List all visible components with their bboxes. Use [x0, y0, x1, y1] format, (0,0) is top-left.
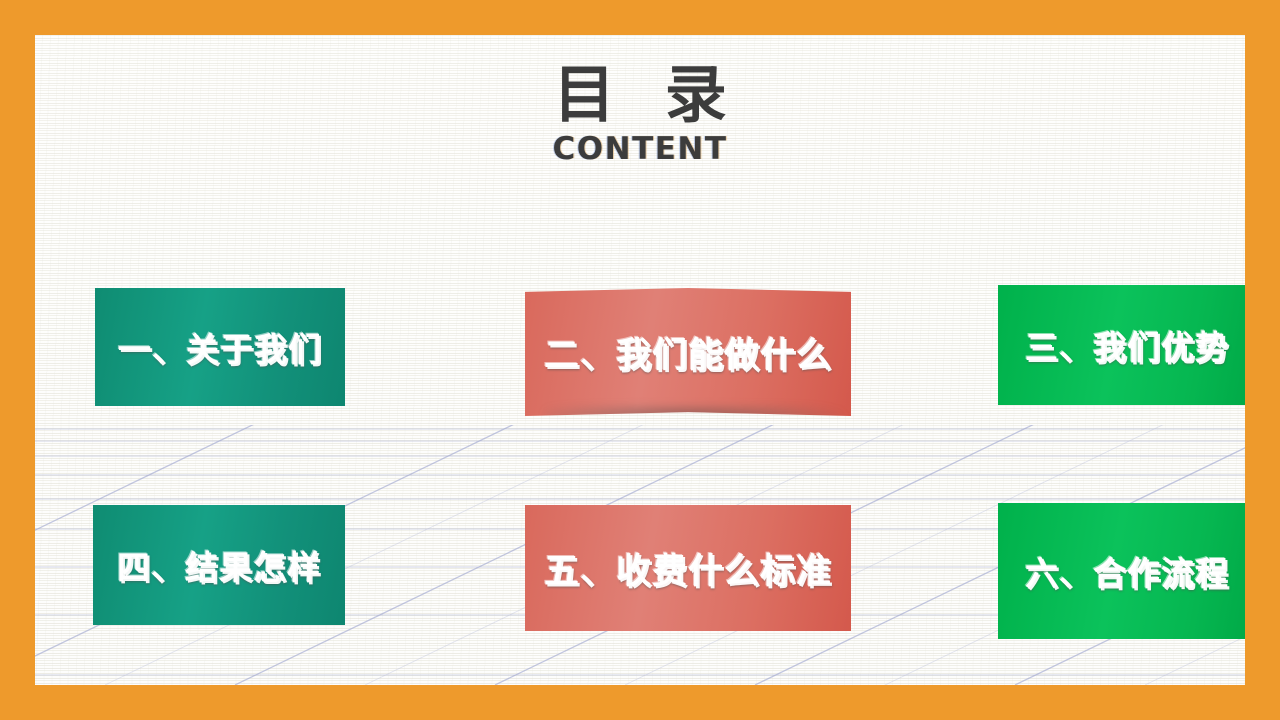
agenda-card-4-label: 四、结果怎样: [93, 541, 345, 589]
content-panel: 目 录 CONTENT 一、关于我们 二、我们能做什么 三、我们优势 四、结果怎…: [35, 35, 1245, 685]
page-title: 目 录: [35, 60, 1245, 129]
agenda-card-5-label: 五、收费什么标准: [525, 543, 851, 594]
agenda-card-3[interactable]: 三、我们优势: [998, 285, 1245, 405]
agenda-card-1[interactable]: 一、关于我们: [95, 288, 345, 406]
agenda-card-1-label: 一、关于我们: [95, 323, 345, 371]
agenda-card-4[interactable]: 四、结果怎样: [93, 505, 345, 625]
agenda-card-2-label: 二、我们能做什么: [525, 327, 851, 378]
agenda-card-5[interactable]: 五、收费什么标准: [525, 505, 851, 631]
agenda-card-6-label: 六、合作流程: [998, 547, 1245, 595]
page-header: 目 录 CONTENT: [35, 60, 1245, 167]
agenda-card-2[interactable]: 二、我们能做什么: [525, 288, 851, 416]
slide-canvas: 目 录 CONTENT 一、关于我们 二、我们能做什么 三、我们优势 四、结果怎…: [0, 0, 1280, 720]
agenda-card-3-label: 三、我们优势: [998, 321, 1245, 369]
page-subtitle: CONTENT: [35, 131, 1245, 167]
agenda-card-6[interactable]: 六、合作流程: [998, 503, 1245, 639]
